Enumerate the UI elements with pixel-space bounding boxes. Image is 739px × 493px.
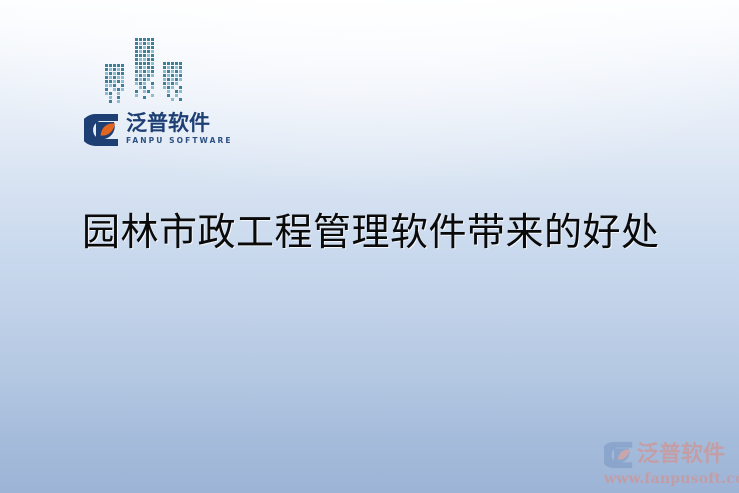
watermark-name-cn: 泛普软件 [637, 443, 725, 467]
brand-text: 泛普软件 FANPU SOFTWARE [126, 112, 233, 146]
pixel-skyline-icon [99, 24, 187, 112]
brand-name-cn: 泛普软件 [126, 112, 233, 135]
watermark-brand-row: 泛普软件 [604, 440, 736, 470]
brand-name-en: FANPU SOFTWARE [126, 136, 233, 146]
brand-lockup: 泛普软件 FANPU SOFTWARE [84, 112, 233, 150]
page-title: 园林市政工程管理软件带来的好处 [82, 209, 660, 255]
slide-canvas: 泛普软件 FANPU SOFTWARE 园林市政工程管理软件带来的好处 泛普软件… [0, 0, 739, 493]
watermark-url: www.fanpusoft.com [604, 471, 736, 487]
fanpu-logo-icon [604, 441, 634, 469]
fanpu-logo-icon [84, 113, 120, 147]
watermark: 泛普软件 www.fanpusoft.com [604, 440, 736, 490]
